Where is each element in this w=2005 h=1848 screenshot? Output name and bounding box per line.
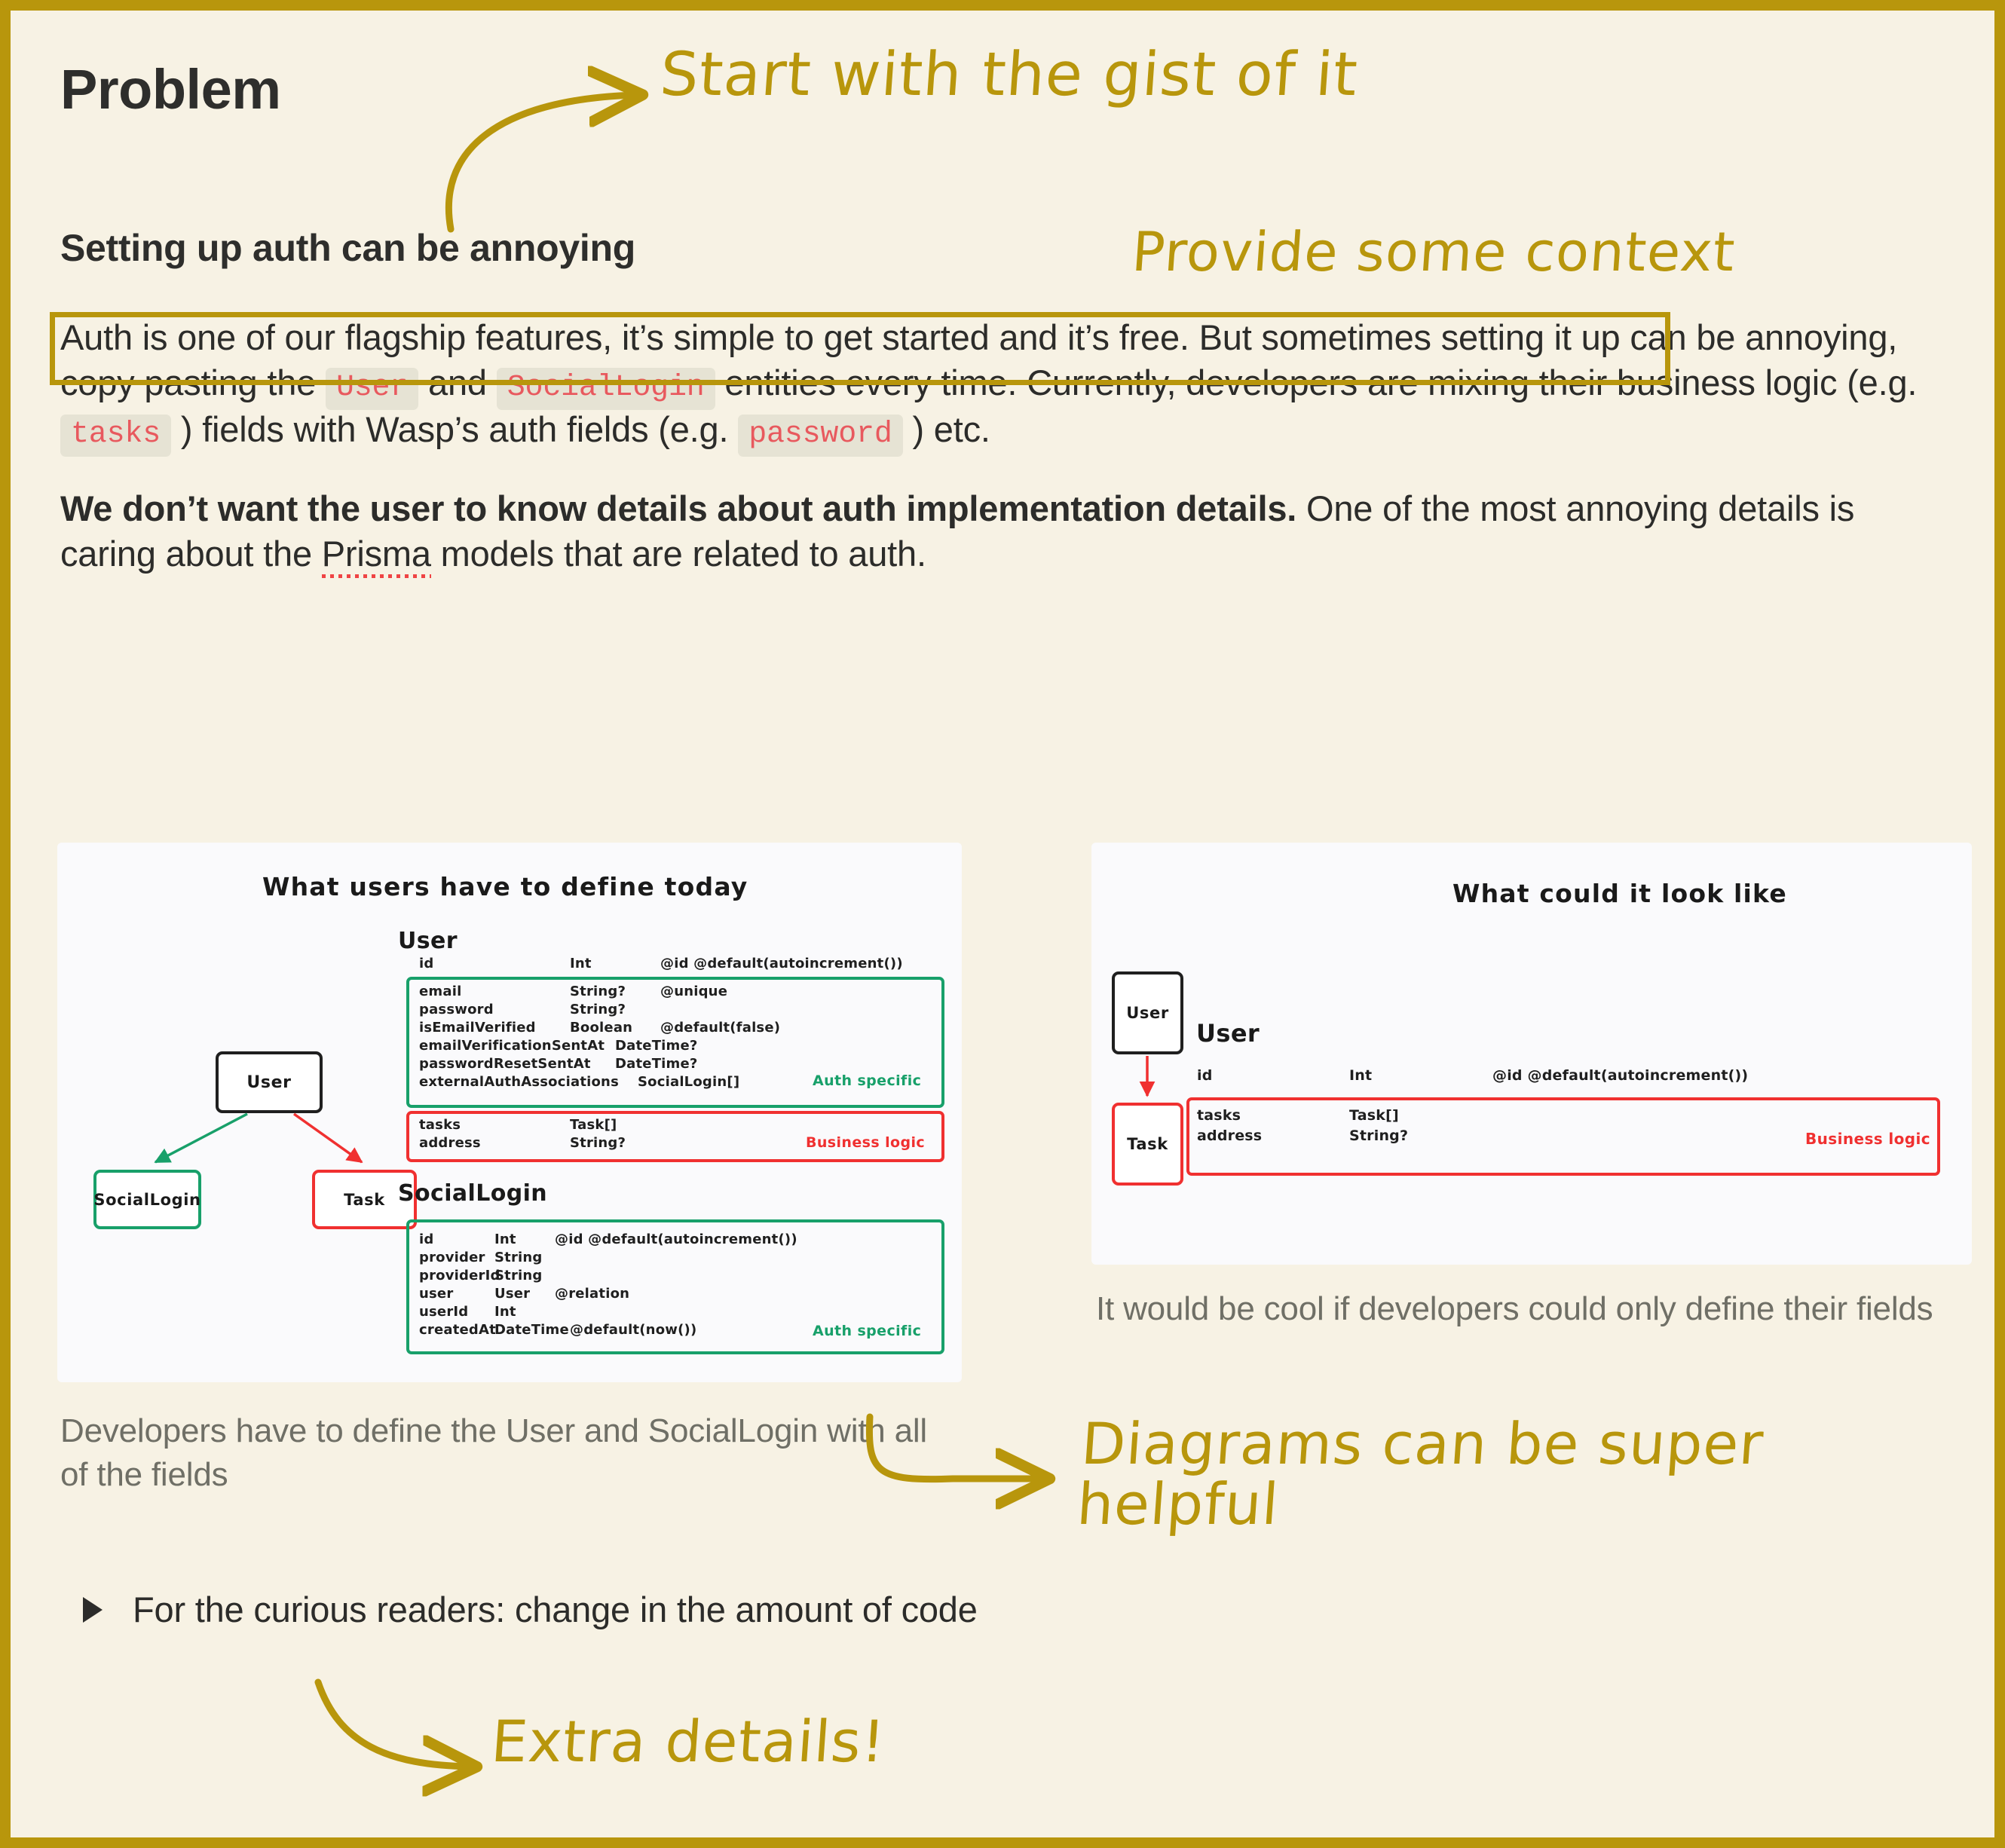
model-name-sociallogin: SocialLogin [398, 1180, 547, 1207]
tag-business-logic-user: Business logic [806, 1134, 925, 1151]
field-row: passwordString? [419, 1002, 660, 1017]
entity-box-sociallogin: SocialLogin [93, 1170, 201, 1229]
tag-business-logic: Business logic [1805, 1130, 1930, 1148]
body-copy: Auth is one of our flagship features, it… [60, 315, 1945, 577]
field-row: createdAtDateTime@default(now()) [419, 1322, 696, 1338]
tag-auth-specific-user: Auth specific [813, 1072, 921, 1089]
annotation-context: Provide some context [1130, 220, 1737, 283]
paragraph-1-text-d: ) fields with Wasp’s auth fields (e.g. [171, 409, 738, 449]
code-sociallogin: SocialLogin [497, 368, 715, 410]
field-row: idInt@id @default(autoincrement()) [1197, 1067, 1748, 1084]
paragraph-2-bold: We don’t want the user to know details a… [60, 488, 1296, 528]
caption-left: Developers have to define the User and S… [60, 1409, 927, 1497]
paragraph-2-text-b: models that are related to auth. [431, 534, 926, 574]
tag-auth-specific-sociallogin: Auth specific [813, 1323, 921, 1339]
annotation-diagrams: Diagrams can be super helpful [1075, 1414, 1958, 1534]
field-row: userUser@relation [419, 1286, 629, 1302]
annotation-extra: Extra details! [489, 1708, 888, 1775]
collapsible-label: For the curious readers: change in the a… [133, 1589, 978, 1630]
annotation-gist: Start with the gist of it [658, 39, 1361, 109]
slide-canvas: Problem Setting up auth can be annoying … [0, 0, 2005, 1848]
page-title: Problem [60, 57, 281, 121]
chevron-right-icon[interactable] [83, 1597, 103, 1623]
paragraph-2: We don’t want the user to know details a… [60, 486, 1945, 577]
spellchecked-word-prisma: Prisma [322, 534, 431, 578]
section-title: Setting up auth can be annoying [60, 226, 635, 270]
field-row: tasksTask[] [1197, 1107, 1492, 1124]
code-user: User [326, 368, 418, 410]
diagram-right-title: What could it look like [1452, 879, 1787, 908]
caption-right: It would be cool if developers could onl… [1096, 1287, 1963, 1331]
field-row: isEmailVerifiedBoolean@default(false) [419, 1020, 780, 1036]
diagram-left-title: What users have to define today [262, 872, 748, 901]
field-row: tasksTask[] [419, 1117, 660, 1133]
paragraph-1: Auth is one of our flagship features, it… [60, 315, 1945, 454]
field-row: emailVerificationSentAtDateTime? [419, 1038, 706, 1054]
code-password: password [738, 415, 902, 457]
field-row: passwordResetSentAtDateTime? [419, 1056, 706, 1072]
collapsible-curious-readers[interactable]: For the curious readers: change in the a… [83, 1589, 978, 1630]
field-row: addressString? [1197, 1127, 1492, 1144]
diagram-users-define-today: What users have to define today User Soc… [57, 843, 962, 1382]
paragraph-1-text-b: and [418, 363, 497, 402]
code-tasks: tasks [60, 415, 171, 457]
field-row: idInt@id @default(autoincrement()) [419, 1231, 797, 1247]
field-row: providerString [419, 1250, 555, 1265]
entity-box-user: User [216, 1051, 323, 1113]
field-row: addressString? [419, 1135, 660, 1151]
field-row: userIdInt [419, 1304, 555, 1320]
paragraph-1-text-c: entities every time. Currently, develope… [715, 363, 1918, 402]
entity-box-task: Task [1112, 1103, 1183, 1186]
diagram-what-could-it-look-like: What could it look like User Task User i… [1091, 843, 1972, 1265]
field-row: idInt@id @default(autoincrement()) [419, 956, 903, 971]
model-name-user: User [398, 928, 458, 954]
model-name-user: User [1196, 1019, 1260, 1048]
highlighted-sentence: Auth is one of our flagship features, it… [60, 317, 1189, 357]
field-row: emailString?@unique [419, 984, 727, 999]
field-row: externalAuthAssociationsSocialLogin[] [419, 1074, 728, 1090]
entity-box-user: User [1112, 971, 1183, 1054]
paragraph-1-text-e: ) etc. [903, 409, 990, 449]
field-row: providerIdString [419, 1268, 555, 1284]
